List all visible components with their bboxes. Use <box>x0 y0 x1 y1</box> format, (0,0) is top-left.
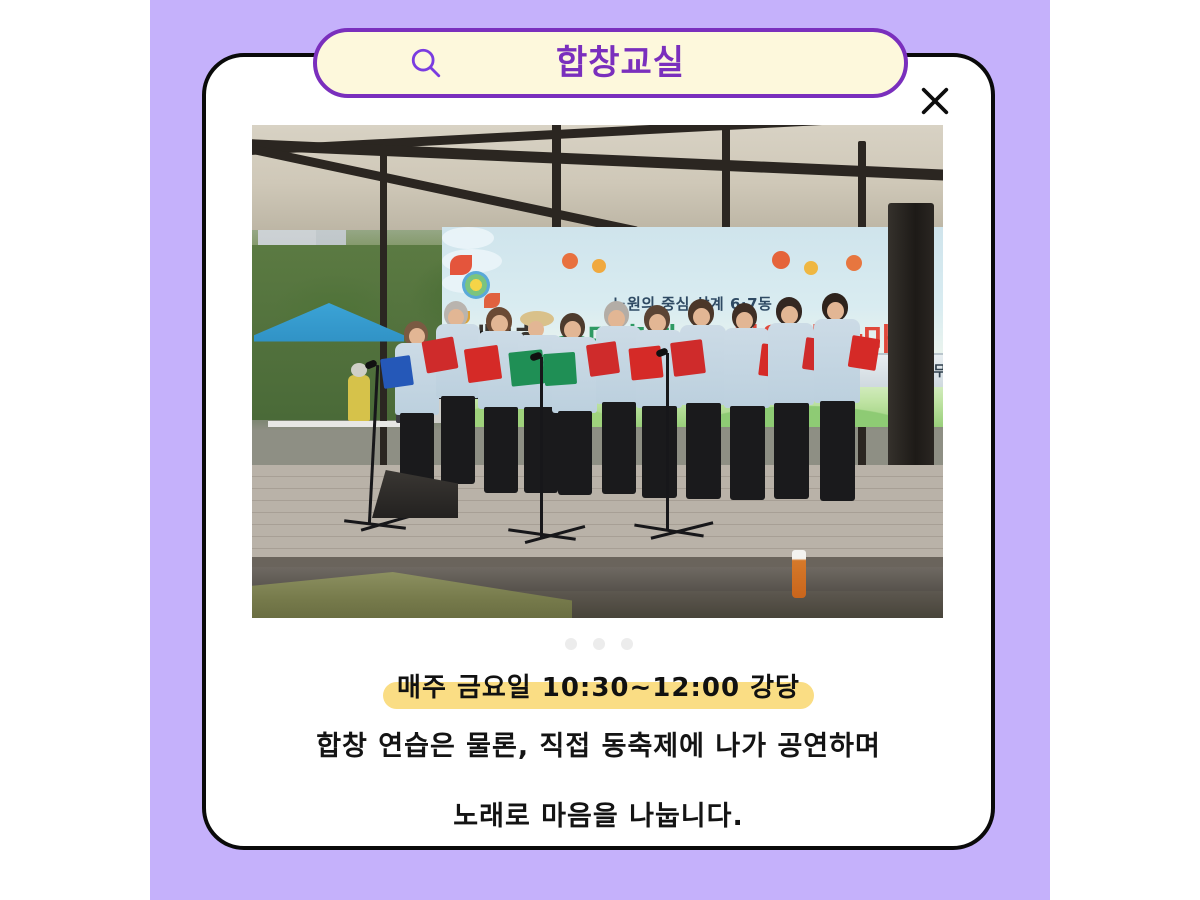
search-icon[interactable] <box>409 46 443 80</box>
roof-post <box>552 125 561 239</box>
banner-fruit <box>772 251 790 269</box>
member-face <box>781 306 798 324</box>
carousel-dot-1[interactable] <box>565 638 577 650</box>
photo-drink-bottle <box>792 550 806 598</box>
carousel-dots <box>202 638 995 650</box>
member-legs <box>441 396 475 484</box>
member-legs <box>400 413 434 483</box>
carousel-dot-2[interactable] <box>593 638 605 650</box>
description-line-1: 합창 연습은 물론, 직접 동축제에 나가 공연하며 <box>202 712 995 782</box>
member-legs <box>686 403 721 499</box>
banner-cloud <box>442 227 494 249</box>
close-icon[interactable] <box>918 84 952 118</box>
banner-fruit <box>846 255 862 271</box>
member-folder <box>848 335 881 371</box>
banner-logo-icon <box>462 271 490 299</box>
description-block: 합창 연습은 물론, 직접 동축제에 나가 공연하며 노래로 마음을 나눕니다. <box>202 712 995 852</box>
banner-leaf <box>484 293 500 308</box>
member-folder <box>380 355 414 389</box>
stage-deck-edge <box>252 557 943 567</box>
schedule-row: 매주 금요일 10:30~12:00 강당 <box>202 662 995 708</box>
schedule-label: 매주 금요일 10:30~12:00 강당 <box>397 673 800 703</box>
member-folder <box>421 336 458 373</box>
mic-stand-pole <box>666 353 669 531</box>
member-legs <box>820 401 855 501</box>
member-legs <box>642 406 677 498</box>
member-folder <box>670 339 706 377</box>
member-legs <box>774 403 809 499</box>
member-legs <box>484 407 518 493</box>
member-legs <box>730 406 765 500</box>
member-legs <box>602 402 636 494</box>
mic-stand-pole <box>540 357 543 537</box>
page-title: 합창교실 <box>317 46 904 80</box>
page-root: 노원의 중심 상계 6·7동 제5회 주민총회 & 어울림 한마당 원 야외무대 <box>0 0 1200 900</box>
member-legs <box>558 411 592 495</box>
photo-person-seated <box>348 375 370 421</box>
banner-fruit <box>562 253 578 269</box>
carousel-dot-3[interactable] <box>621 638 633 650</box>
member-folder <box>586 341 620 377</box>
schedule-text: 매주 금요일 10:30~12:00 강당 <box>383 667 814 704</box>
title-pill[interactable]: 합창교실 <box>313 28 908 98</box>
banner-fruit <box>592 259 606 273</box>
member-folder <box>464 345 502 383</box>
close-button[interactable] <box>918 84 952 118</box>
carousel-photo[interactable]: 노원의 중심 상계 6·7동 제5회 주민총회 & 어울림 한마당 원 야외무대 <box>252 125 943 618</box>
member-face <box>693 308 710 326</box>
member-face <box>827 302 844 320</box>
member-folder <box>543 352 577 386</box>
roof-post <box>722 125 730 229</box>
description-line-2: 노래로 마음을 나눕니다. <box>202 782 995 852</box>
banner-fruit <box>804 261 818 275</box>
